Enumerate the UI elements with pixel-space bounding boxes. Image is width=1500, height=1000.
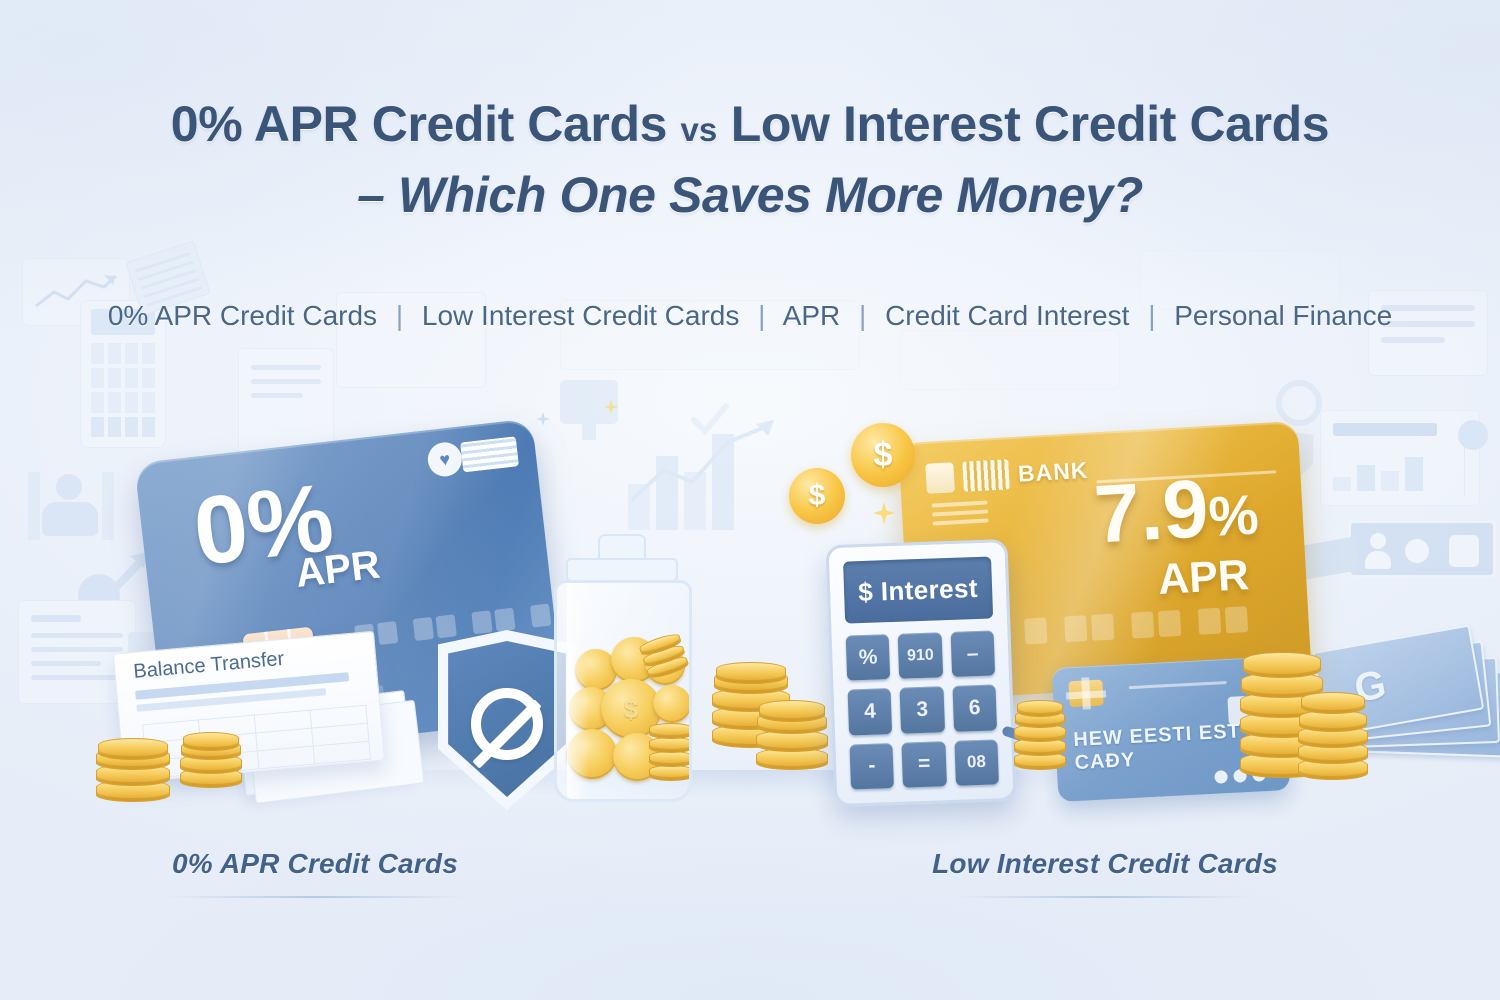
footer-right-label: Low Interest Credit Cards bbox=[915, 848, 1295, 880]
footer-left-label: 0% APR Credit Cards bbox=[125, 848, 505, 880]
tag-item: Personal Finance bbox=[1174, 300, 1392, 331]
calculator-key[interactable]: 910 bbox=[898, 632, 943, 679]
gold-card-rate-suffix: APR bbox=[1157, 554, 1250, 602]
chip-icon bbox=[1068, 680, 1103, 708]
no-entry-icon bbox=[471, 688, 543, 760]
footer-right-divider bbox=[955, 896, 1255, 898]
coin-stack bbox=[1014, 700, 1066, 774]
blue-card-rate-suffix: APR bbox=[294, 545, 382, 594]
card-stripe-icon bbox=[1129, 681, 1227, 689]
tag-separator: | bbox=[747, 300, 776, 331]
tag-item: APR bbox=[783, 300, 841, 331]
tag-separator: | bbox=[848, 300, 877, 331]
jar-body bbox=[554, 580, 692, 802]
sparkle-icon bbox=[536, 412, 550, 426]
calculator-key[interactable]: % bbox=[846, 634, 891, 681]
calculator-key[interactable]: 08 bbox=[954, 739, 999, 786]
tag-item: Credit Card Interest bbox=[885, 300, 1129, 331]
coin-stack bbox=[756, 700, 828, 770]
coin-jar bbox=[540, 534, 706, 804]
jar-glass-highlight bbox=[567, 583, 589, 799]
tag-item: Low Interest Credit Cards bbox=[422, 300, 739, 331]
tag-separator: | bbox=[385, 300, 414, 331]
sparkle-icon bbox=[604, 400, 618, 414]
footer-left-divider bbox=[165, 896, 465, 898]
barcode-icon bbox=[962, 459, 1010, 492]
coin-stack bbox=[96, 738, 170, 802]
calculator-key[interactable]: - bbox=[849, 743, 894, 790]
coin-stack bbox=[180, 732, 242, 788]
poster-canvas: G BANK 7.9% APR ♥ bbox=[0, 0, 1500, 1000]
sparkle-icon bbox=[873, 502, 895, 524]
tag-item: 0% APR Credit Cards bbox=[108, 300, 377, 331]
footer-left-group: 0% APR Credit Cards bbox=[125, 848, 505, 898]
dollar-coin-icon: $ bbox=[851, 423, 915, 487]
calculator-key[interactable]: – bbox=[950, 630, 995, 677]
interest-calculator: $ Interest % 910 – 4 3 6 - = 08 bbox=[825, 539, 1016, 807]
jar-lid bbox=[566, 558, 678, 582]
footer-right-group: Low Interest Credit Cards bbox=[915, 848, 1295, 898]
calculator-keypad: % 910 – 4 3 6 - = 08 bbox=[846, 630, 999, 789]
tag-separator: | bbox=[1137, 300, 1166, 331]
calculator-key[interactable]: 6 bbox=[952, 685, 997, 732]
tag-list: 0% APR Credit Cards | Low Interest Credi… bbox=[0, 300, 1500, 332]
gold-card-lines bbox=[932, 500, 989, 530]
gold-card-rate: 7.9% bbox=[1092, 465, 1260, 556]
calculator-key[interactable]: 4 bbox=[848, 688, 893, 735]
jar-knob bbox=[598, 534, 646, 560]
card-stripe-icon bbox=[460, 436, 519, 472]
calculator-display: $ Interest bbox=[843, 556, 993, 623]
chip-icon bbox=[925, 462, 955, 494]
bank-label: BANK bbox=[1017, 456, 1089, 487]
calculator-key[interactable]: = bbox=[902, 741, 947, 788]
dollar-coin-icon: $ bbox=[789, 468, 845, 524]
calculator-key[interactable]: 3 bbox=[900, 687, 945, 734]
coin-stack bbox=[1298, 690, 1368, 782]
balance-transfer-title: Balance Transfer bbox=[133, 648, 286, 684]
